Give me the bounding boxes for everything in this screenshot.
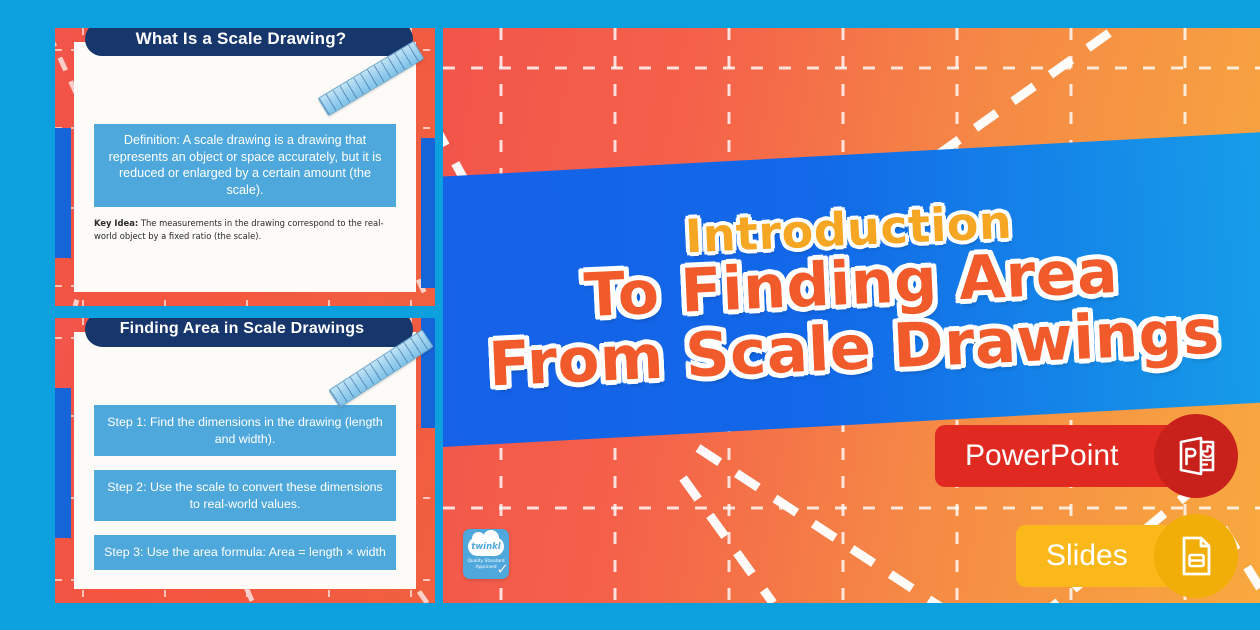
- slide-1-left-blue-band: [55, 128, 71, 258]
- powerpoint-icon[interactable]: [1154, 414, 1238, 498]
- slide-2-step-1: Step 1: Find the dimensions in the drawi…: [94, 405, 396, 456]
- slide-thumbnail-1[interactable]: Definition: A scale drawing is a drawing…: [55, 28, 435, 306]
- slide-2-step-3: Step 3: Use the area formula: Area = len…: [94, 535, 396, 570]
- check-icon: ✓: [496, 562, 509, 577]
- powerpoint-glyph: [1173, 433, 1219, 479]
- slide-1-title-banner: What Is a Scale Drawing?: [85, 28, 413, 56]
- slide-2-title-banner: Finding Area in Scale Drawings: [85, 318, 413, 347]
- main-title: Introduction To Finding Area From Scale …: [443, 188, 1260, 400]
- google-slides-badge[interactable]: Slides: [1016, 514, 1260, 598]
- slide-1-key-idea: Key Idea: The measurements in the drawin…: [94, 217, 396, 242]
- slide-1-right-blue-band: [421, 138, 435, 288]
- slide-2-step-list: Step 1: Find the dimensions in the drawi…: [94, 405, 396, 584]
- twinkl-cloud-icon: twinkl: [468, 537, 504, 556]
- slide-1-definition-box: Definition: A scale drawing is a drawing…: [94, 124, 396, 207]
- powerpoint-badge[interactable]: PowerPoint: [935, 414, 1260, 498]
- twinkl-logo: twinkl Quality Standard Approved ✓: [463, 529, 509, 579]
- slide-2-step-2: Step 2: Use the scale to convert these d…: [94, 470, 396, 521]
- slides-glyph: [1173, 533, 1219, 579]
- slide-1-key-idea-text: The measurements in the drawing correspo…: [94, 218, 384, 241]
- google-slides-icon[interactable]: [1154, 514, 1238, 598]
- twinkl-wordmark: twinkl: [471, 542, 500, 552]
- slide-1-key-idea-label: Key Idea:: [94, 218, 138, 228]
- slide-thumbnail-column: Definition: A scale drawing is a drawing…: [55, 28, 435, 603]
- slide-2-left-blue-band: [55, 388, 71, 538]
- slide-thumbnail-2[interactable]: Step 1: Find the dimensions in the drawi…: [55, 318, 435, 603]
